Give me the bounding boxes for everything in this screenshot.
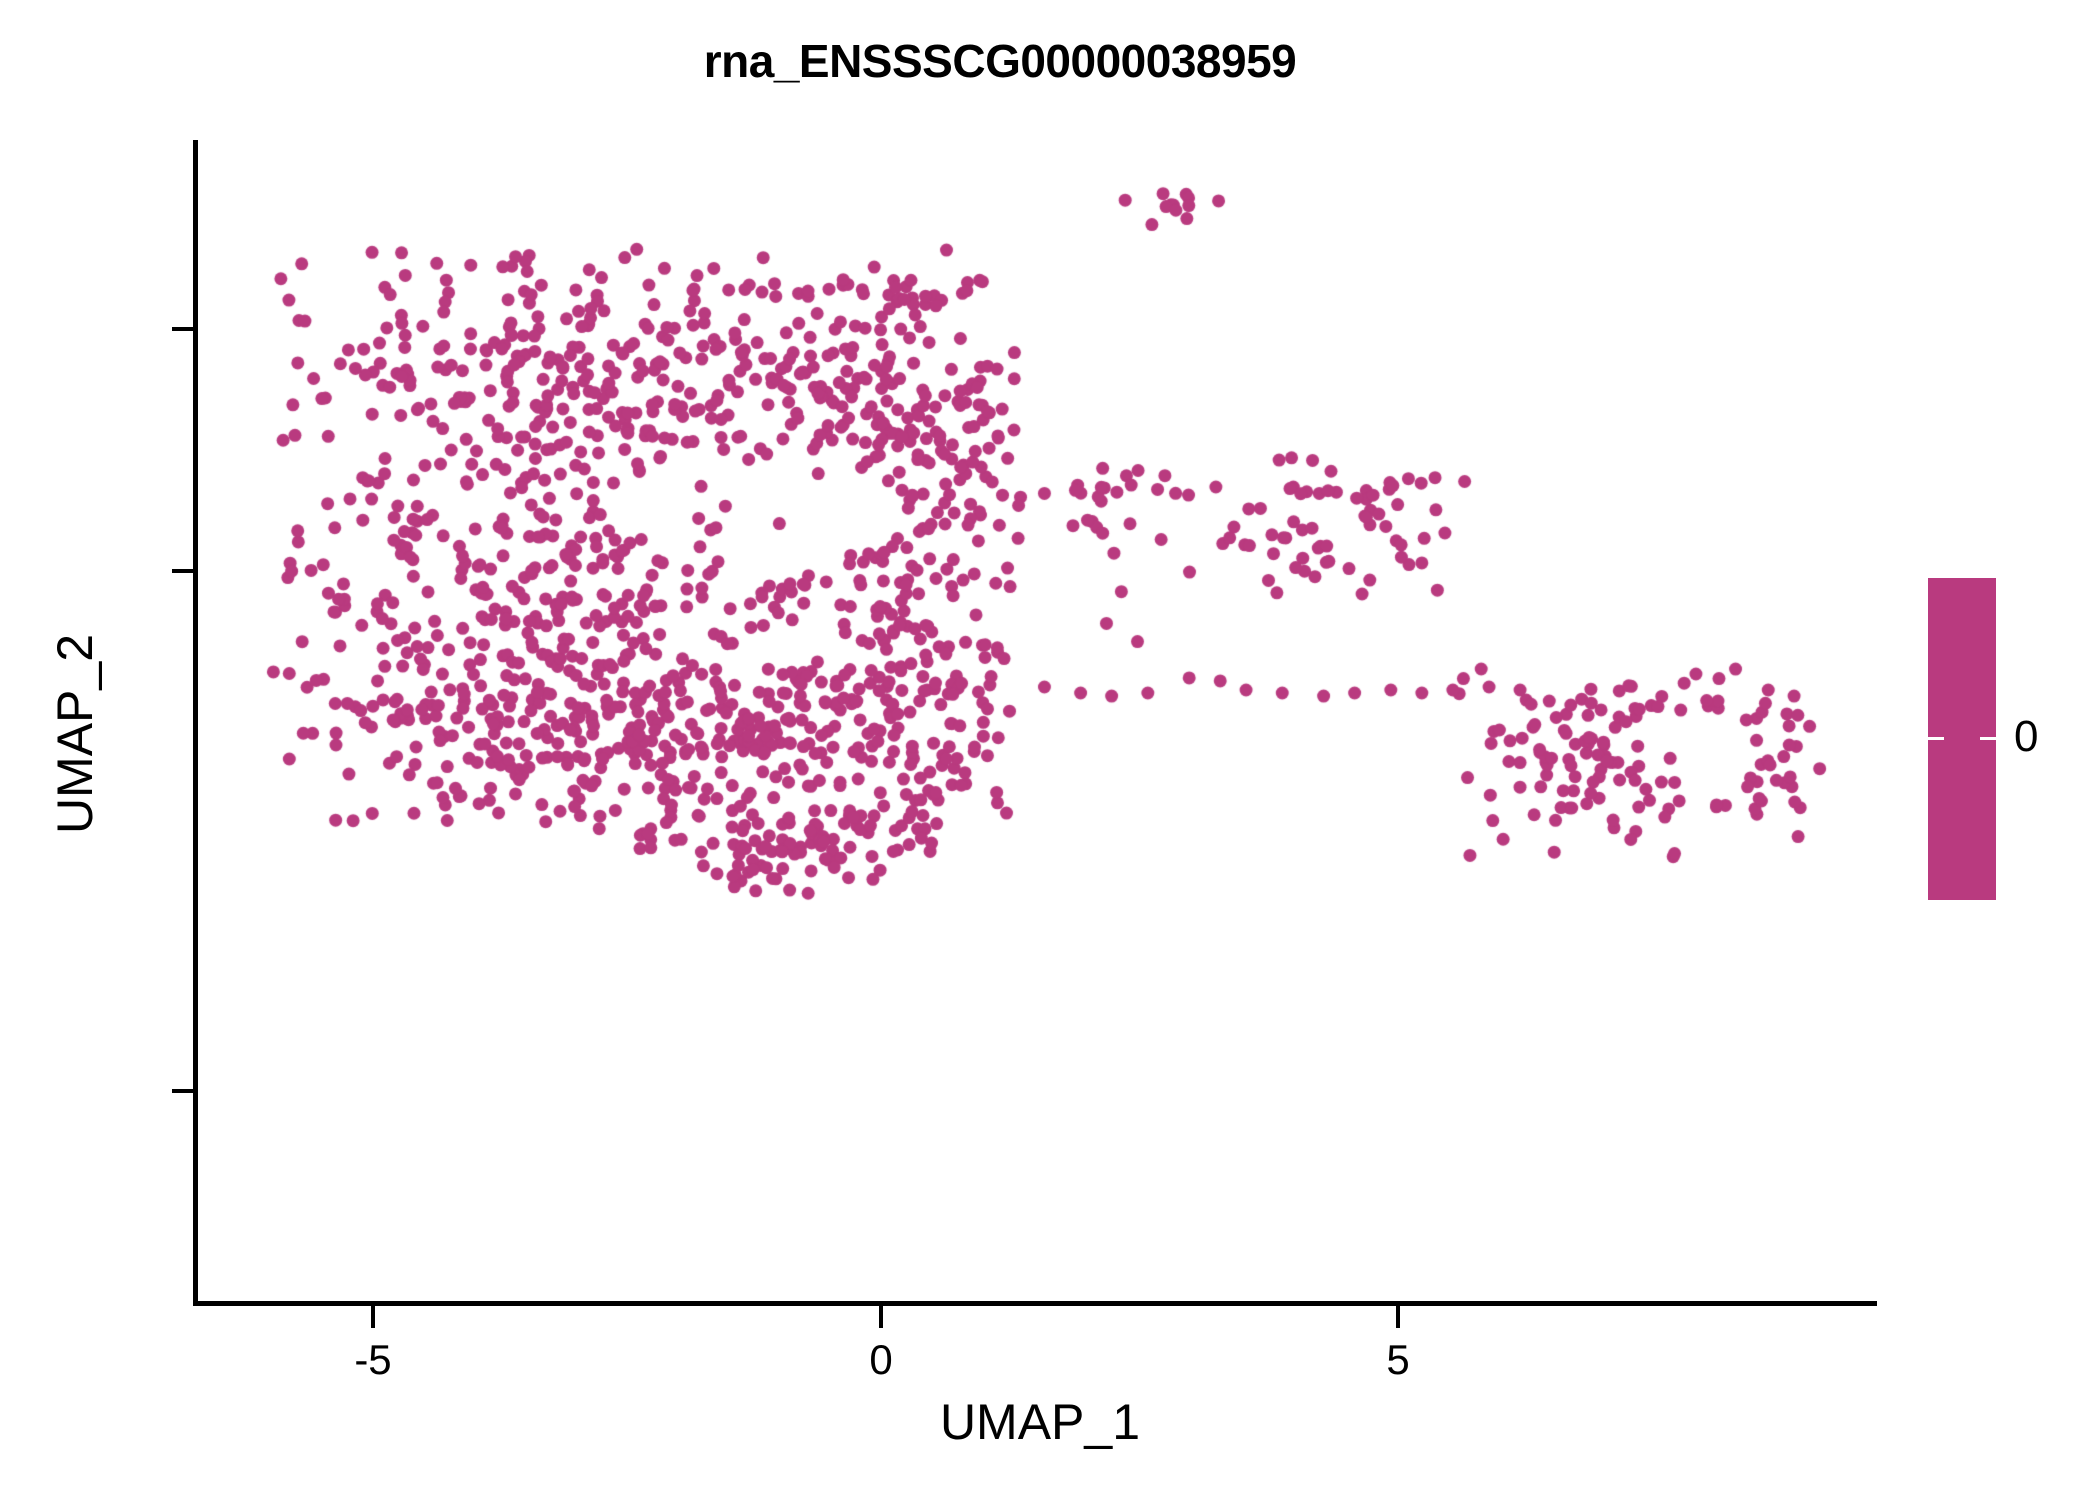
- x-tick-label-neg5: -5: [313, 1336, 433, 1384]
- x-tick-label-5: 5: [1338, 1336, 1458, 1384]
- x-tick-neg5: [371, 1306, 375, 1328]
- y-tick-0: [172, 569, 194, 573]
- y-tick-neg4: [172, 1089, 194, 1093]
- x-tick-label-0: 0: [821, 1336, 941, 1384]
- y-tick-4: [172, 327, 194, 331]
- plot-panel: 4 0 -4 -5 0 5 UMAP_2 UMAP_1: [0, 0, 2100, 1500]
- colorbar-tick-label-0: 0: [2014, 709, 2038, 765]
- colorbar-tick-left: [1928, 737, 1944, 740]
- x-tick-0: [879, 1306, 883, 1328]
- x-axis-title: UMAP_1: [780, 1393, 1300, 1451]
- scatter-points-layer: [0, 0, 2100, 1500]
- x-tick-5: [1396, 1306, 1400, 1328]
- colorbar-tick-right: [1980, 737, 1996, 740]
- y-axis-title: UMAP_2: [46, 454, 104, 1014]
- umap-feature-plot: rna_ENSSSCG00000038959 4 0 -4 -5 0 5 UMA…: [0, 0, 2100, 1500]
